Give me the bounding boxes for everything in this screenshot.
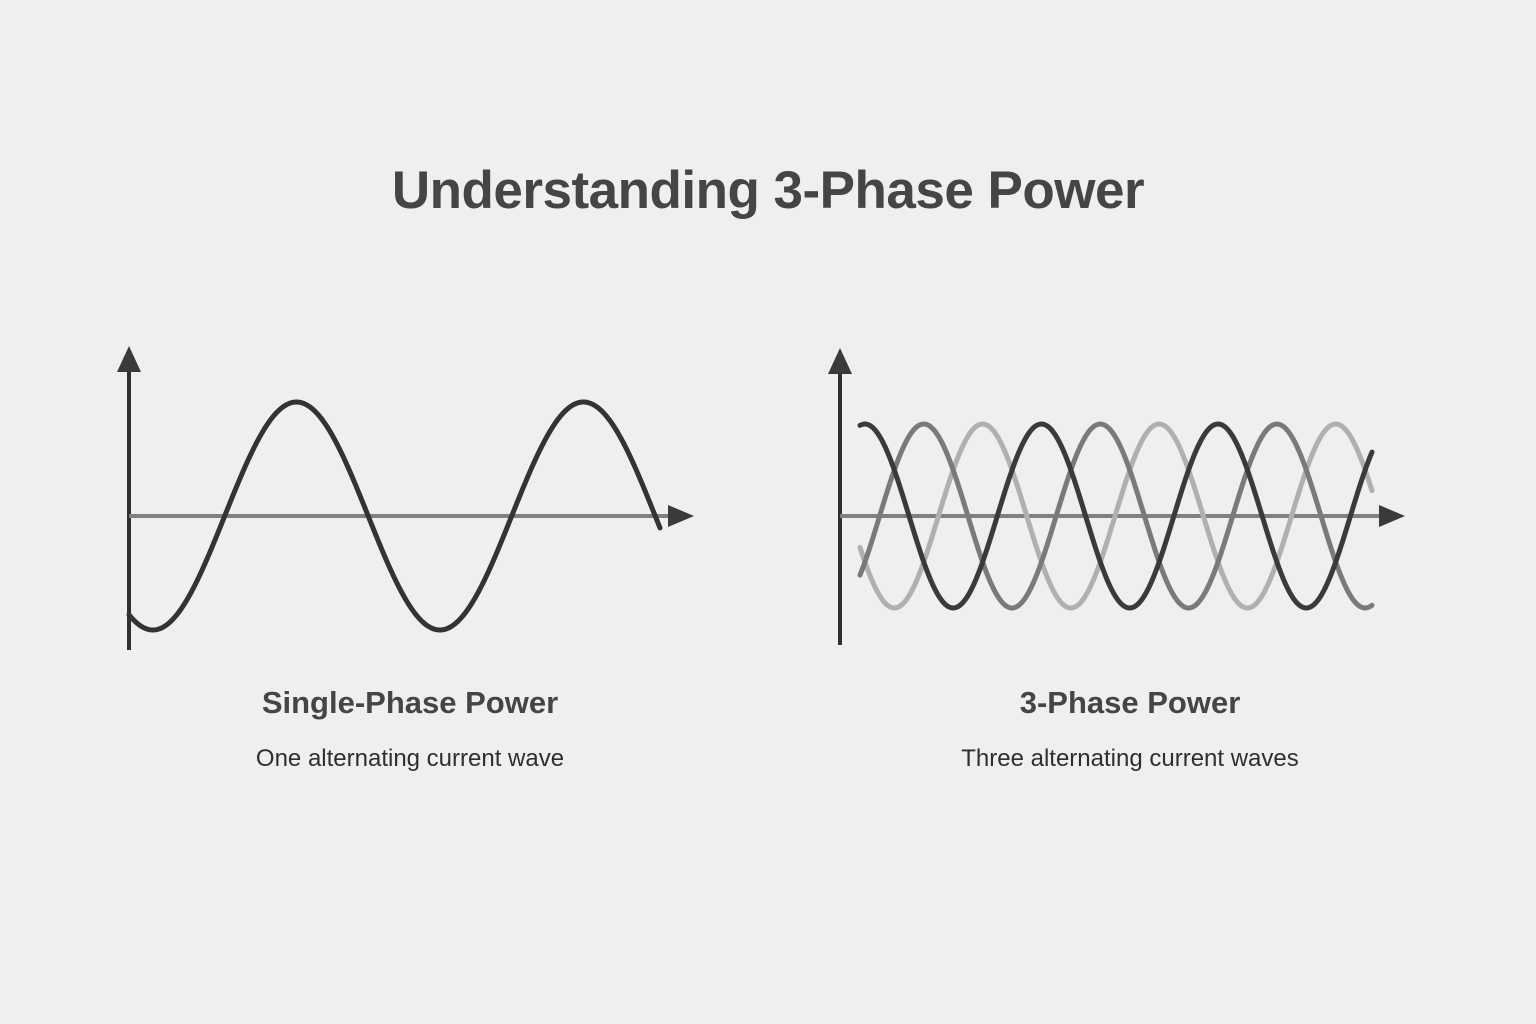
y-axis-arrow-icon: [117, 346, 141, 372]
diagram-canvas: Understanding 3-Phase Power Single-Phase…: [0, 0, 1536, 1024]
x-axis-arrow-icon: [668, 505, 694, 527]
single-phase-wave-chart: [60, 330, 760, 670]
panel-heading-single-phase: Single-Phase Power: [60, 685, 760, 721]
three-phase-wave-chart: [780, 330, 1480, 670]
x-axis-arrow-icon: [1379, 505, 1405, 527]
panel-subtitle-three-phase: Three alternating current waves: [780, 745, 1480, 773]
y-axis-arrow-icon: [828, 348, 852, 374]
page-title: Understanding 3-Phase Power: [0, 160, 1536, 221]
panel-heading-three-phase: 3-Phase Power: [780, 685, 1480, 721]
panel-subtitle-single-phase: One alternating current wave: [60, 745, 760, 773]
